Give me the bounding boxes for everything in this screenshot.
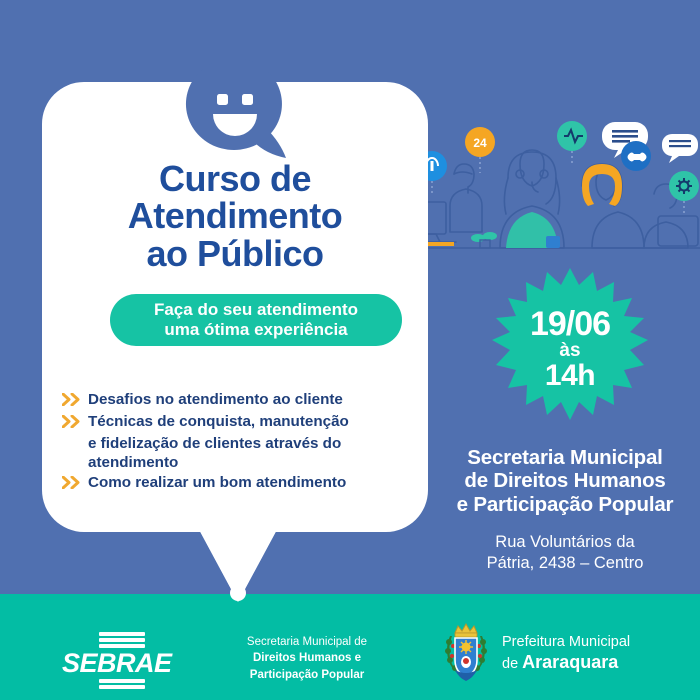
organizer-line-3: e Participação Popular [434,493,696,516]
svg-text:24: 24 [473,136,487,150]
organizer-line-2: de Direitos Humanos [434,469,696,492]
address-line-2: Pátria, 2438 – Centro [434,553,696,574]
double-chevron-icon [62,390,88,411]
page-title: Curso de Atendimento ao Público [42,160,428,272]
topics-list: Desafios no atendimento ao cliente Técni… [62,390,402,495]
sebrae-logo-text: SEBRAE [62,650,182,677]
date-badge: 19/06 às 14h [490,268,650,430]
time-value: 14h [545,361,595,390]
double-chevron-icon [62,412,88,433]
list-item-continuation: atendimento [62,453,402,472]
list-item-label: Técnicas de conquista, manutenção [88,412,349,431]
call-center-team-illustration: 24 [396,120,700,278]
footer-secretariat: Secretaria Municipal de Direitos Humanos… [222,634,392,683]
footer-secretariat-line-3: Participação Popular [222,667,392,683]
speech-card-tail-tip [230,585,246,601]
list-item: Desafios no atendimento ao cliente [62,390,402,411]
title-line-1: Curso de [42,160,428,197]
list-item: Técnicas de conquista, manutenção [62,412,402,433]
tagline-line-1: Faça do seu atendimento [154,300,358,320]
title-line-3: ao Público [42,235,428,272]
prefecture-logo: Prefeitura Municipal de Araraquara [440,620,630,687]
list-item-continuation: e fidelização de clientes através do [62,434,402,453]
organizer-line-1: Secretaria Municipal [434,446,696,469]
sebrae-logo-bars-top [99,632,145,648]
tagline-line-2: uma ótima experiência [154,320,358,340]
sebrae-logo: SEBRAE [62,630,182,691]
list-item: Como realizar um bom atendimento [62,473,402,494]
organizer-name: Secretaria Municipal de Direitos Humanos… [434,446,696,516]
title-line-2: Atendimento [42,197,428,234]
prefecture-city-name: Araraquara [522,652,618,672]
date-value: 19/06 [530,308,610,341]
venue-address: Rua Voluntários da Pátria, 2438 – Centro [434,532,696,573]
double-chevron-icon [62,473,88,494]
footer-secretariat-line-2: Direitos Humanos e [222,650,392,666]
tagline-pill: Faça do seu atendimento uma ótima experi… [110,294,402,346]
tagline-text: Faça do seu atendimento uma ótima experi… [154,300,358,339]
araraquara-coat-of-arms-icon [440,620,492,687]
address-line-1: Rua Voluntários da [434,532,696,553]
list-item-label: Como realizar um bom atendimento [88,473,346,492]
prefecture-line-2-prefix: de [502,656,522,672]
poster: 24 [0,0,700,700]
prefecture-line-1: Prefeitura Municipal [502,633,630,651]
list-item-label: Desafios no atendimento ao cliente [88,390,343,409]
sebrae-logo-bars-bottom [99,679,145,689]
speech-bubble-smiley-icon [182,56,288,162]
prefecture-text: Prefeitura Municipal de Araraquara [502,633,630,674]
date-connector: às [559,342,580,361]
footer-secretariat-line-1: Secretaria Municipal de [222,634,392,650]
